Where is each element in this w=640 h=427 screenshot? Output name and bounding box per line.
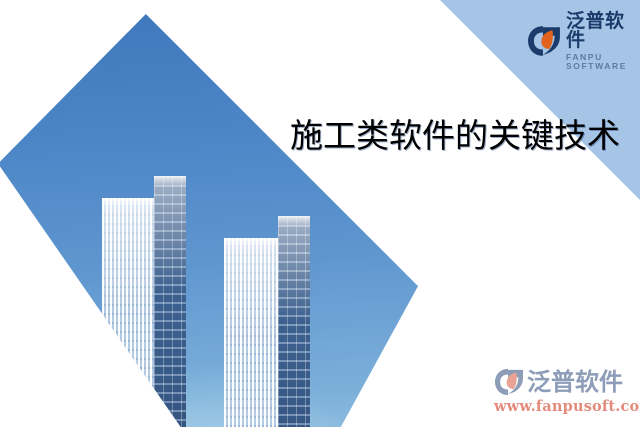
tower-right-dark-sheen	[278, 216, 310, 427]
fanpu-watermark-mark-icon	[494, 368, 524, 396]
tower-right-light-sheen	[224, 238, 278, 427]
tower-right-dark-face	[278, 216, 310, 427]
tower-left	[102, 176, 186, 427]
tower-right-light-cap	[224, 238, 278, 248]
header-logo-cn: 泛普软件	[566, 12, 640, 50]
tower-left-dark-face	[154, 176, 186, 427]
watermark-logo-cn: 泛普软件	[527, 370, 623, 394]
tower-left-light-sheen	[102, 198, 154, 427]
tower-right	[224, 216, 310, 427]
sky-gradient	[0, 14, 418, 427]
header-logo-wordmark: 泛普软件 FANPU SOFTWARE	[566, 12, 640, 70]
tower-right-light-face	[224, 238, 278, 427]
slide-canvas: 施工类软件的关键技术 泛普软件 FANPU SOFTWARE 泛普软	[0, 0, 640, 427]
watermark-url: www.fanpusoft.com	[494, 398, 640, 415]
watermark-logo: 泛普软件 www.fanpusoft.com	[494, 368, 640, 415]
tower-left-light-face	[102, 198, 154, 427]
tower-right-dark-cap	[278, 216, 310, 226]
watermark-logo-row: 泛普软件	[494, 368, 640, 396]
header-logo-en: FANPU SOFTWARE	[566, 53, 640, 70]
tower-left-dark-sheen	[154, 176, 186, 427]
header-logo[interactable]: 泛普软件 FANPU SOFTWARE	[527, 12, 640, 70]
tower-left-dark-cap	[154, 176, 186, 186]
fanpu-logo-mark-icon	[527, 25, 561, 57]
slide-title: 施工类软件的关键技术	[290, 114, 620, 158]
tower-left-light-cap	[102, 198, 154, 208]
diamond-photo-panel	[0, 14, 418, 427]
